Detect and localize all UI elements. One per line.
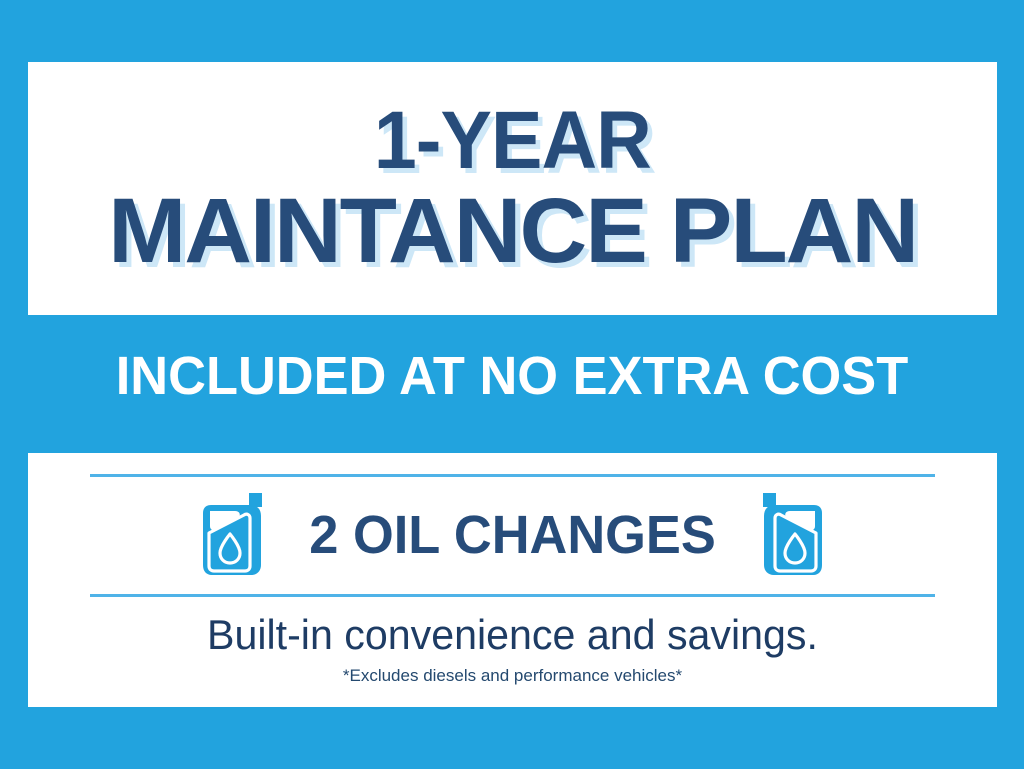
headline-line-2: MAINTANCE PLAN xyxy=(108,189,917,274)
offer-row: 2 OIL CHANGES xyxy=(28,477,997,593)
tagline: Built-in convenience and savings. xyxy=(38,611,988,659)
disclaimer: *Excludes diesels and performance vehicl… xyxy=(28,666,997,686)
oil-jug-icon-right xyxy=(756,489,830,581)
details-panel: 2 OIL CHANGES Built-in convenience and s… xyxy=(28,453,997,707)
headline-line-1: 1-YEAR xyxy=(374,103,651,178)
oil-jug-icon-left xyxy=(195,489,269,581)
offer-label: 2 OIL CHANGES xyxy=(309,504,716,566)
subheadline: INCLUDED AT NO EXTRA COST xyxy=(15,345,1008,407)
divider-bottom xyxy=(90,594,935,597)
promo-poster: 1-YEAR MAINTANCE PLAN INCLUDED AT NO EXT… xyxy=(0,0,1024,769)
headline-panel: 1-YEAR MAINTANCE PLAN xyxy=(28,62,997,315)
